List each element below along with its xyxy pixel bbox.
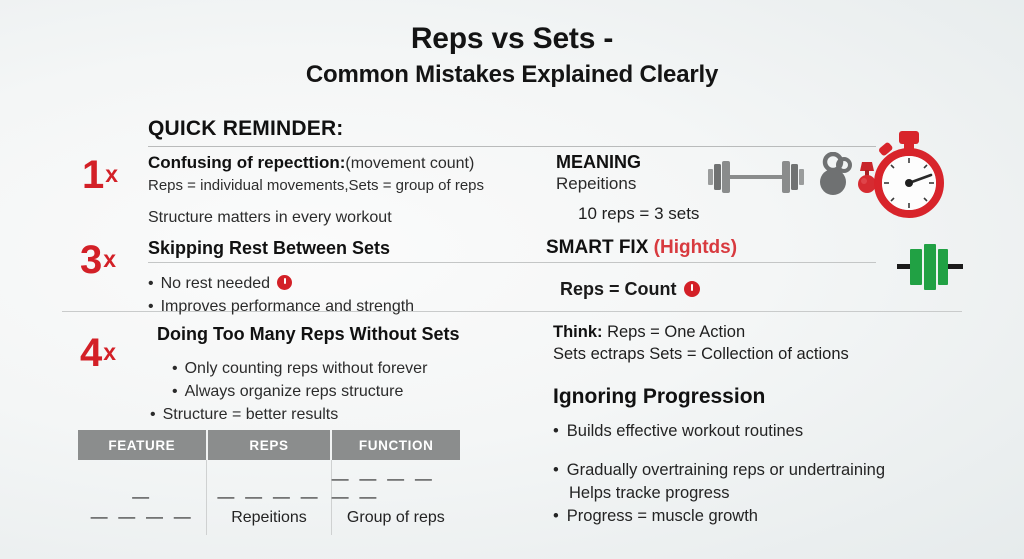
left-item-3-heading: Skipping Rest Between Sets (148, 237, 548, 260)
smart-fix-block: SMART FIX (Hightds) Reps = Count (546, 237, 876, 300)
kettlebell-icon (816, 152, 858, 198)
meaning-detail: 10 reps = 3 sets (578, 203, 756, 226)
think-line-2: Sets ectraps Sets = Collection of action… (553, 343, 913, 365)
barbell-icon (700, 157, 812, 197)
left-item-4-bullet-2: Always organize reps structure (172, 380, 550, 403)
ignoring-bullet-3: Progress = muscle growth (553, 505, 953, 528)
left-item-4-bullet-1: Only counting reps without forever (172, 357, 550, 380)
marker-4: 4x (80, 333, 116, 373)
table-row: — — — — — — — — — Repeitions — — — — — —… (78, 460, 460, 535)
marker-4-digit: 4 (80, 331, 102, 375)
table-cell-reps-dashes: — — — — (217, 488, 320, 507)
table-header-row: FEATURE REPS FUNCTION (78, 430, 460, 460)
table-cell-reps-value: Repeitions (231, 509, 307, 527)
comparison-table: FEATURE REPS FUNCTION — — — — — — — — — … (78, 430, 460, 535)
left-item-3-bullet-1: No rest needed (148, 272, 548, 295)
marker-4-suffix: x (103, 339, 116, 365)
table-cell-feature-dash-bottom: — — — — (91, 508, 194, 527)
smart-fix-highlight: (Hightds) (654, 237, 737, 258)
reps-count-line: Reps = Count (560, 279, 876, 300)
left-item-1-body: Structure matters in every workout (148, 206, 548, 229)
ignoring-heading: Ignoring Progression (553, 385, 953, 409)
alert-badge-icon (277, 275, 292, 290)
ignoring-bullet-2: Gradually overtraining reps or undertrai… (553, 459, 953, 482)
ignoring-progression-block: Ignoring Progression Builds effective wo… (553, 385, 953, 528)
left-item-3-bullet-1-text: No rest needed (161, 275, 270, 292)
title-block: Reps vs Sets - Common Mistakes Explained… (0, 22, 1024, 91)
alert-badge-icon (684, 281, 700, 297)
think-label: Think: (553, 323, 603, 341)
table-cell-function-dashes: — — — — — — (332, 470, 460, 507)
table-cell-function-value: Group of reps (347, 509, 445, 527)
marker-3-suffix: x (103, 246, 116, 272)
quick-reminder-heading: QUICK REMINDER: (148, 117, 344, 141)
table-header-reps: REPS (208, 430, 333, 460)
left-item-1-heading-text: Confusing of repecttion: (148, 153, 345, 172)
infographic-canvas: Reps vs Sets - Common Mistakes Explained… (0, 0, 1024, 559)
marker-3: 3x (80, 240, 116, 280)
think-line-1-rest: Reps = One Action (603, 323, 746, 341)
left-item-4: Doing Too Many Reps Without Sets Only co… (130, 323, 550, 426)
ignoring-continuation: Helps tracke progress (553, 482, 953, 505)
left-item-3: Skipping Rest Between Sets No rest neede… (148, 237, 548, 318)
reps-count-text: Reps = Count (560, 279, 677, 299)
table-cell-feature-dash-top: — (132, 488, 152, 507)
left-item-3-bullet-2: Improves performance and strength (148, 295, 548, 318)
stopwatch-icon (866, 130, 952, 218)
left-item-1-heading-paren: (movement count) (345, 155, 474, 172)
divider-under-quick-reminder (148, 146, 876, 147)
marker-1-digit: 1 (82, 153, 104, 197)
left-item-1-sub: Reps = individual movements,Sets = group… (148, 176, 548, 196)
left-item-1: Confusing of repecttion:(movement count)… (148, 152, 548, 229)
table-cell-function: — — — — — — Group of reps (332, 460, 460, 535)
marker-1-suffix: x (105, 161, 118, 187)
smart-fix-label: SMART FIX (546, 237, 648, 258)
smart-fix-heading: SMART FIX (Hightds) (546, 237, 876, 259)
think-line-1: Think: Reps = One Action (553, 321, 913, 343)
table-cell-reps: — — — — Repeitions (207, 460, 331, 535)
think-block: Think: Reps = One Action Sets ectraps Se… (553, 321, 913, 366)
ignoring-bullet-1: Builds effective workout routines (553, 420, 953, 443)
marker-1: 1x (82, 155, 118, 195)
left-item-1-heading: Confusing of repecttion:(movement count) (148, 152, 548, 174)
table-header-feature: FEATURE (78, 430, 208, 460)
left-item-4-heading: Doing Too Many Reps Without Sets (157, 323, 550, 346)
green-dumbbell-icon (895, 240, 967, 296)
table-header-function: FUNCTION (332, 430, 460, 460)
marker-3-digit: 3 (80, 238, 102, 282)
title-line-2: Common Mistakes Explained Clearly (0, 59, 1024, 91)
title-line-1: Reps vs Sets - (0, 22, 1024, 55)
table-cell-feature: — — — — — (78, 460, 207, 535)
left-item-4-bullet-3: Structure = better results (150, 403, 550, 426)
